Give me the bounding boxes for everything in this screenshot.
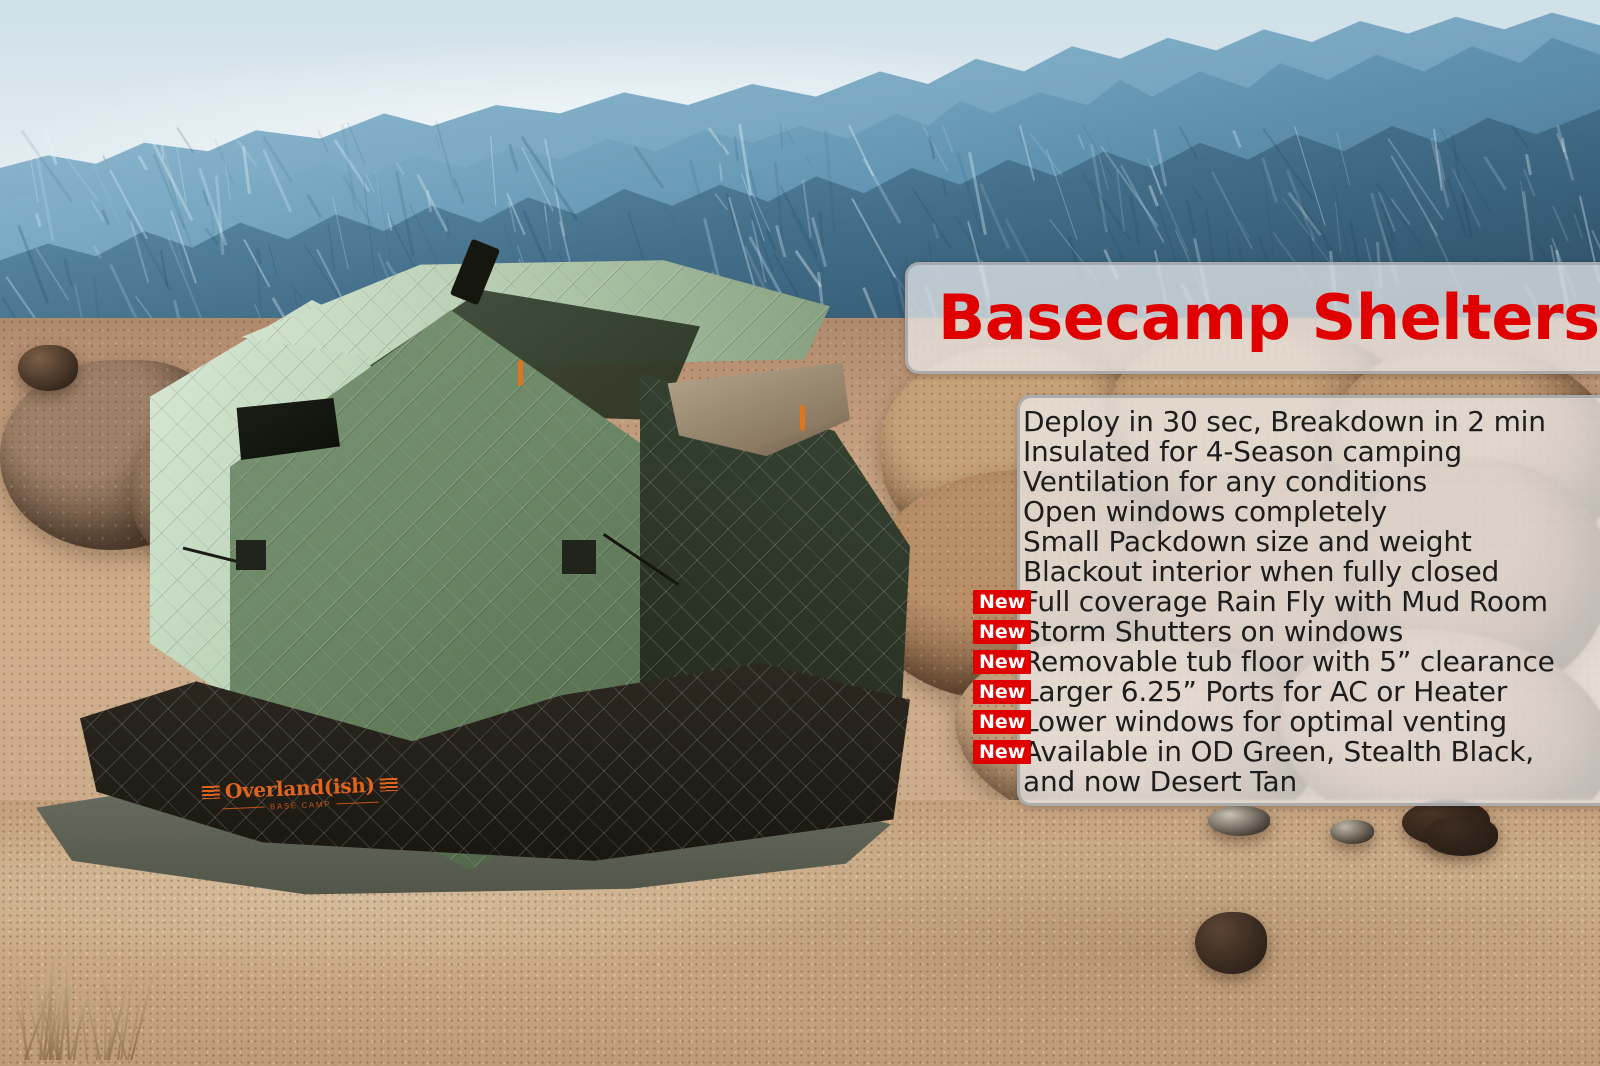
new-badge: New: [973, 590, 1031, 614]
feature-item-label: Deploy in 30 sec, Breakdown in 2 min: [1023, 405, 1546, 438]
feature-item: Ventilation for any conditions: [1017, 467, 1600, 497]
feature-item: NewAvailable in OD Green, Stealth Black,: [1017, 737, 1600, 767]
feature-item: NewStorm Shutters on windows: [1017, 617, 1600, 647]
feature-list: Deploy in 30 sec, Breakdown in 2 minInsu…: [1017, 395, 1600, 800]
loose-rock: [1424, 816, 1498, 856]
loose-rock: [1195, 912, 1267, 974]
feature-item: Insulated for 4-Season camping: [1017, 437, 1600, 467]
logo-rule-right: [336, 802, 378, 805]
feature-item-label: Full coverage Rain Fly with Mud Room: [1023, 585, 1548, 618]
poster-canvas: Overland(ish) BASE CAMP Basecamp Shelter…: [0, 0, 1600, 1066]
new-badge: New: [973, 620, 1031, 644]
new-badge: New: [973, 650, 1031, 674]
feature-item-label: Ventilation for any conditions: [1023, 465, 1427, 498]
feature-item-label: Open windows completely: [1023, 495, 1387, 528]
new-badge: New: [973, 680, 1031, 704]
tent-tab-left: [236, 540, 266, 570]
logo-right-bars-icon: [379, 777, 398, 791]
page-title: Basecamp Shelters: [938, 287, 1600, 349]
feature-item-label: Lower windows for optimal venting: [1023, 705, 1507, 738]
title-panel: Basecamp Shelters: [905, 262, 1600, 374]
basecamp-tent: Overland(ish) BASE CAMP: [40, 240, 920, 890]
feature-item: Small Packdown size and weight: [1017, 527, 1600, 557]
feature-item: NewLarger 6.25” Ports for AC or Heater: [1017, 677, 1600, 707]
feature-item: Open windows completely: [1017, 497, 1600, 527]
loose-rock: [1208, 806, 1270, 836]
feature-item-label: Small Packdown size and weight: [1023, 525, 1472, 558]
feature-item-label: Larger 6.25” Ports for AC or Heater: [1023, 675, 1507, 708]
loose-rock: [1330, 820, 1374, 844]
feature-item: and now Desert Tan: [1017, 767, 1600, 797]
feature-item-label: Available in OD Green, Stealth Black,: [1023, 735, 1534, 768]
feature-item: Deploy in 30 sec, Breakdown in 2 min: [1017, 407, 1600, 437]
feature-item-label: and now Desert Tan: [1023, 765, 1297, 798]
feature-item-label: Removable tub floor with 5” clearance: [1023, 645, 1555, 678]
feature-item: NewRemovable tub floor with 5” clearance: [1017, 647, 1600, 677]
feature-item-label: Storm Shutters on windows: [1023, 615, 1403, 648]
feature-item-label: Insulated for 4-Season camping: [1023, 435, 1462, 468]
new-badge: New: [973, 740, 1031, 764]
tent-zipper-pull-1: [518, 360, 523, 386]
feature-item: NewLower windows for optimal venting: [1017, 707, 1600, 737]
feature-item: Blackout interior when fully closed: [1017, 557, 1600, 587]
logo-rule-left: [223, 807, 265, 810]
feature-item: NewFull coverage Rain Fly with Mud Room: [1017, 587, 1600, 617]
tent-zipper-pull-2: [800, 405, 805, 431]
feature-item-label: Blackout interior when fully closed: [1023, 555, 1499, 588]
tent-tab-right: [562, 540, 596, 574]
new-badge: New: [973, 710, 1031, 734]
logo-left-bars-icon: [202, 785, 221, 799]
